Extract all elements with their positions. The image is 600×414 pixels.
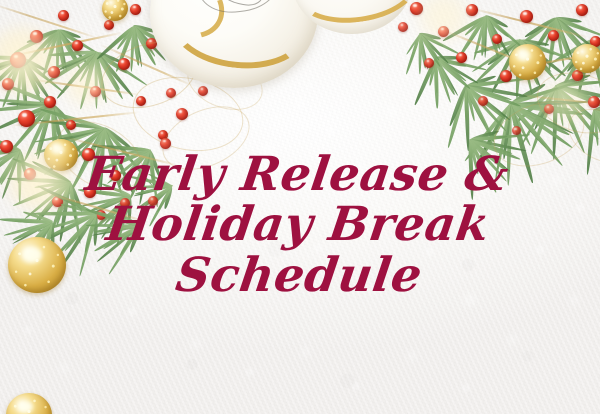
gold-ornament-right-edge: [572, 44, 600, 73]
glitter-sparkles: [8, 237, 66, 293]
red-berry: [492, 34, 502, 44]
red-berry: [398, 22, 408, 32]
fairy-light-glow: [6, 150, 72, 212]
red-berry: [520, 10, 533, 23]
red-berry: [58, 10, 69, 21]
glitter-sparkles: [509, 44, 546, 80]
fairy-light-glow: [540, 78, 588, 124]
red-berry: [456, 52, 467, 63]
gold-filigree-ornament-right: [509, 44, 546, 80]
ball-specular-highlight: [17, 401, 33, 413]
red-berry: [148, 196, 158, 206]
red-berry: [176, 108, 188, 120]
red-berry: [120, 198, 130, 208]
red-berry: [44, 96, 56, 108]
red-berry: [0, 140, 13, 153]
ball-specular-highlight: [22, 247, 42, 263]
red-berry: [478, 96, 488, 106]
red-berry: [500, 70, 512, 82]
red-berry: [104, 20, 114, 30]
red-berry: [424, 58, 434, 68]
red-berry: [72, 40, 83, 51]
ball-specular-highlight: [518, 50, 531, 60]
fairy-light-glow: [64, 62, 110, 106]
glitter-sparkles: [572, 44, 600, 73]
red-berry: [548, 30, 559, 41]
red-berry: [160, 138, 171, 149]
red-berry: [84, 186, 96, 198]
red-berry: [198, 86, 208, 96]
holiday-graphic-canvas: Early Release & Holiday Break Schedule: [0, 0, 600, 414]
gold-glitter-ball-left: [8, 237, 66, 293]
red-berry: [130, 4, 141, 15]
red-berry: [576, 4, 588, 16]
red-berry: [18, 110, 35, 127]
